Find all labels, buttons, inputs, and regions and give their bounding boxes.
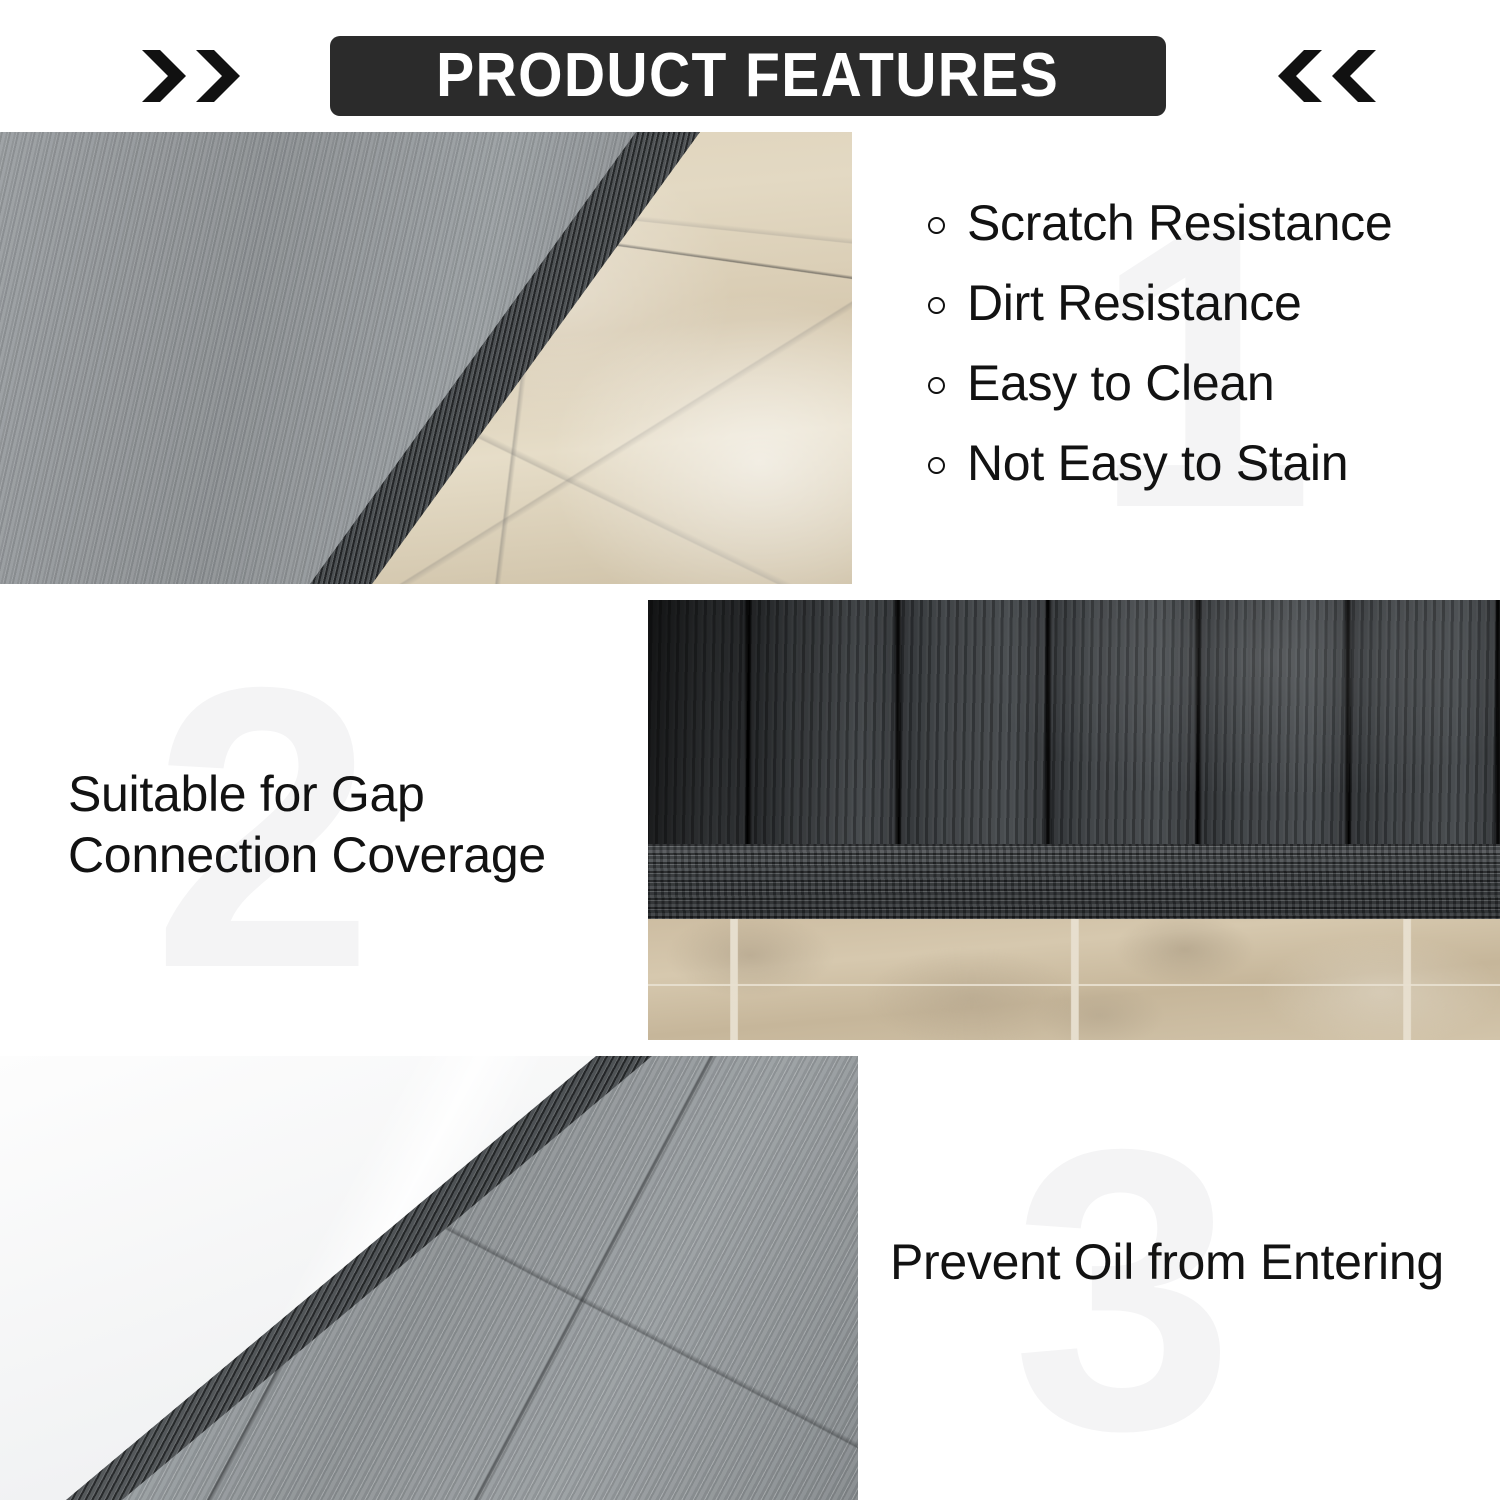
- feature-label: Dirt Resistance: [967, 276, 1302, 330]
- feature-list-item: Not Easy to Stain: [928, 436, 1473, 490]
- hollow-circle-bullet-icon: [928, 457, 945, 474]
- tile-grout-lines: [648, 919, 1500, 1040]
- caption-block-2: Suitable for Gap Connection Coverage: [68, 764, 628, 886]
- hollow-circle-bullet-icon: [928, 217, 945, 234]
- chevron-right-icon-1: [138, 46, 186, 106]
- double-chevron-left-icon: [1278, 46, 1380, 106]
- feature-list: Scratch Resistance Dirt Resistance Easy …: [928, 196, 1473, 516]
- caption-block-3: Prevent Oil from Entering: [890, 1232, 1490, 1293]
- header: PRODUCT FEATURES: [0, 0, 1500, 140]
- page-title: PRODUCT FEATURES: [436, 45, 1059, 107]
- caption-line: Prevent Oil from Entering: [890, 1232, 1490, 1293]
- feature-label: Scratch Resistance: [967, 196, 1392, 250]
- caption-line: Suitable for Gap: [68, 764, 628, 825]
- caption-line: Connection Coverage: [68, 825, 628, 886]
- chevron-left-icon-2: [1332, 46, 1380, 106]
- feature-list-item: Dirt Resistance: [928, 276, 1473, 330]
- feature-list-item: Easy to Clean: [928, 356, 1473, 410]
- chevron-right-icon-2: [192, 46, 240, 106]
- feature-image-2: [648, 600, 1500, 1040]
- feature-image-3: [0, 1056, 858, 1500]
- plank-shading: [648, 600, 1500, 846]
- feature-label: Easy to Clean: [967, 356, 1274, 410]
- hollow-circle-bullet-icon: [928, 297, 945, 314]
- hollow-circle-bullet-icon: [928, 377, 945, 394]
- feature-image-1: [0, 132, 852, 584]
- feature-label: Not Easy to Stain: [967, 436, 1348, 490]
- double-chevron-right-icon: [138, 46, 240, 106]
- transition-strip: [648, 844, 1500, 919]
- title-bar: PRODUCT FEATURES: [330, 36, 1166, 116]
- chevron-left-icon-1: [1278, 46, 1326, 106]
- product-features-infographic: PRODUCT FEATURES 1 Scratch Resistance D: [0, 0, 1500, 1500]
- feature-list-item: Scratch Resistance: [928, 196, 1473, 250]
